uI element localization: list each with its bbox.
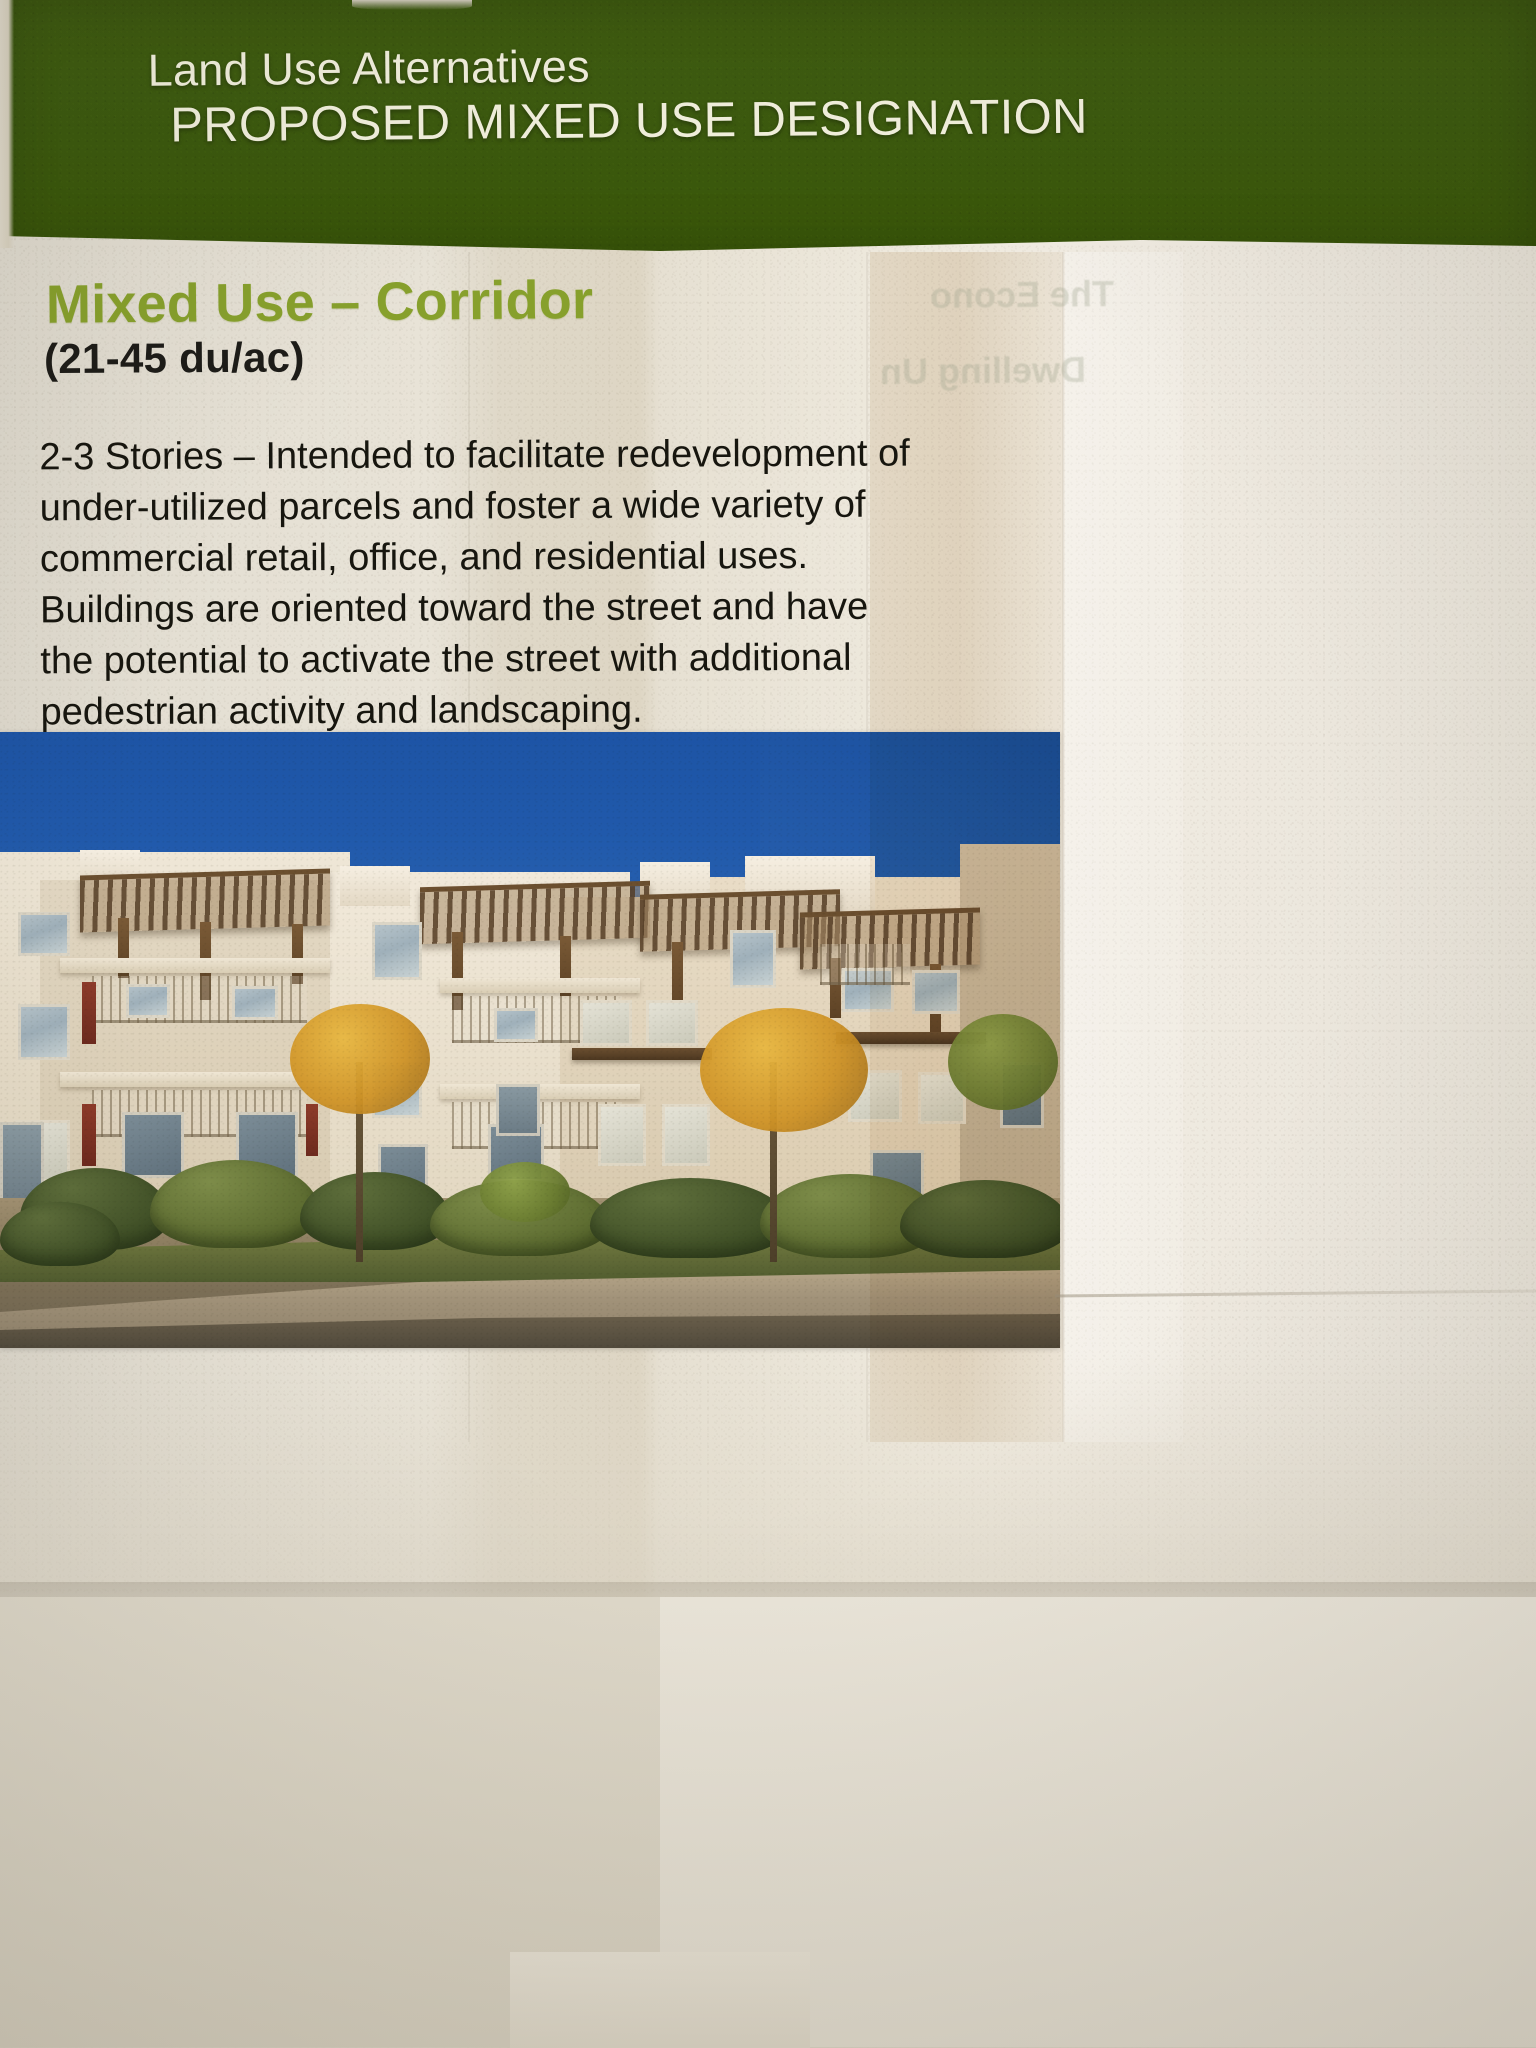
balcony-slab [440,978,640,993]
document-page: Land Use Alternatives PROPOSED MIXED USE… [0,0,1536,2048]
ghost-text-line-2: Dwelling Un [880,349,1086,393]
window [372,922,422,980]
window [494,1008,538,1042]
page-left-edge [0,0,14,248]
awning [572,1048,712,1060]
parapet [340,866,410,906]
section-heading: Mixed Use – Corridor [46,265,1146,335]
page-top-notch [352,0,472,10]
window [232,986,278,1020]
accent-panel [82,1104,96,1166]
window [730,930,776,988]
window [912,970,960,1014]
section-body-text: 2-3 Stories – Intended to facilitate red… [39,428,1110,739]
window [598,1104,646,1166]
building-photograph [0,732,1060,1348]
page-lower-strip [510,1952,810,2048]
balcony-slab [60,958,330,973]
window [18,912,70,956]
body-line: under-utilized parcels and foster a wide… [40,479,1110,535]
body-line: Buildings are oriented toward the street… [40,581,1110,637]
body-line: commercial retail, office, and residenti… [40,530,1110,586]
balcony-railing [820,944,910,985]
window [126,984,170,1018]
density-range: (21-45 du/ac) [44,330,744,384]
page-fold-line [1055,1289,1536,1297]
window [662,1104,710,1166]
header-title-block: Land Use Alternatives PROPOSED MIXED USE… [148,31,1536,154]
balcony-slab [60,1072,330,1087]
content-area: The Econo Dwelling Un Mixed Use – Corrid… [0,252,1536,2048]
accent-panel [82,982,96,1044]
body-line: 2-3 Stories – Intended to facilitate red… [39,428,1109,484]
accent-panel [306,1104,318,1156]
tree-canopy [700,1008,868,1132]
window [580,1000,632,1046]
tree-canopy [948,1014,1058,1110]
tree-canopy [480,1162,570,1222]
body-line: the potential to activate the street wit… [40,632,1110,688]
window [122,1112,184,1178]
entry-door [496,1084,540,1136]
balcony-slab [440,1084,640,1099]
window [18,1004,70,1060]
window [646,1000,698,1046]
tree-canopy [290,1004,430,1114]
body-line: pedestrian activity and landscaping. [40,683,1110,739]
pergola-post [292,924,303,984]
